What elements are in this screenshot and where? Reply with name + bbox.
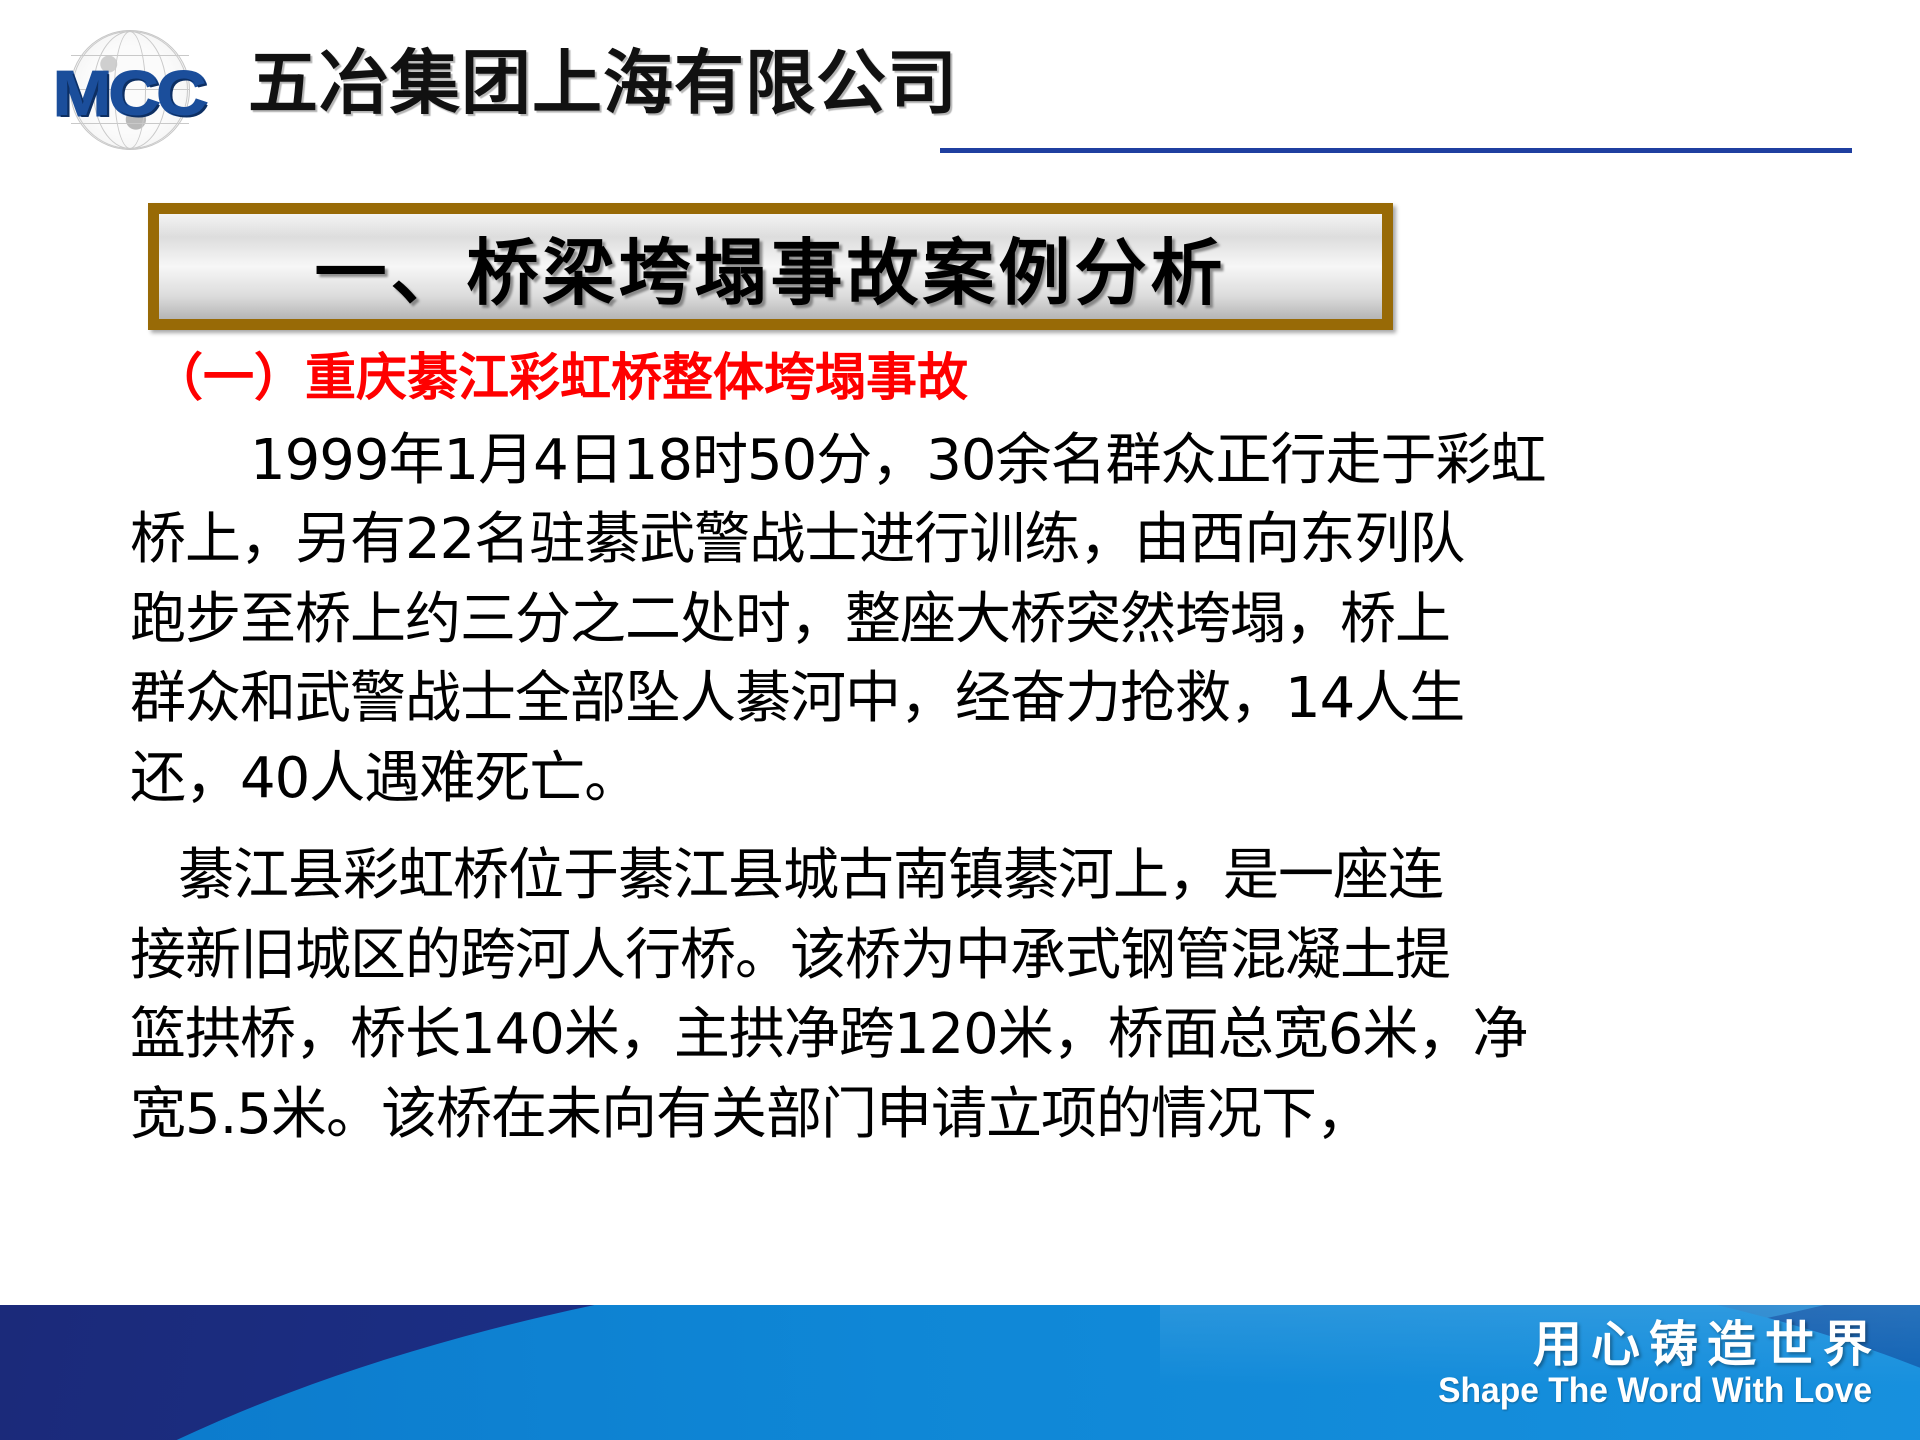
paragraph-line: 綦江县彩虹桥位于綦江县城古南镇綦河上，是一座连 [130, 836, 1810, 916]
paragraph-accident-description: 1999年1月4日18时50分，30余名群众正行走于彩虹 桥上，另有22名驻綦武… [130, 421, 1810, 819]
slide-header: MCC 五冶集团上海有限公司 [0, 0, 1920, 160]
paragraph-line: 1999年1月4日18时50分，30余名群众正行走于彩虹 [130, 421, 1810, 501]
paragraph-line: 篮拱桥，桥长140米，主拱净跨120米，桥面总宽6米，净 [130, 995, 1810, 1075]
slogan-english: Shape The Word With Love [1438, 1372, 1872, 1411]
mcc-logo-text: MCC [9, 64, 250, 126]
section-title-box: 一、桥梁垮塌事故案例分析 [148, 203, 1393, 330]
header-divider [940, 148, 1852, 153]
paragraph-line: 还，40人遇难死亡。 [130, 739, 1810, 819]
paragraph-line: 群众和武警战士全部坠人綦河中，经奋力抢救，14人生 [130, 659, 1810, 739]
slogan-chinese: 用心铸造世界 [1420, 1319, 1881, 1370]
slide-footer: 用心铸造世界 Shape The Word With Love [0, 1305, 1920, 1440]
company-name: 五冶集团上海有限公司 [248, 48, 958, 118]
case-subtitle: （一）重庆綦江彩虹桥整体垮塌事故 [152, 350, 1810, 409]
slide-content: （一）重庆綦江彩虹桥整体垮塌事故 1999年1月4日18时50分，30余名群众正… [130, 350, 1810, 1154]
paragraph-line: 宽5.5米。该桥在未向有关部门申请立项的情况下， [130, 1075, 1810, 1155]
mcc-logo: MCC [22, 28, 237, 153]
paragraph-line: 接新旧城区的跨河人行桥。该桥为中承式钢管混凝土提 [130, 916, 1810, 996]
paragraph-bridge-description: 綦江县彩虹桥位于綦江县城古南镇綦河上，是一座连 接新旧城区的跨河人行桥。该桥为中… [130, 836, 1810, 1154]
footer-slogan: 用心铸造世界 Shape The Word With Love [1420, 1319, 1872, 1411]
paragraph-line: 桥上，另有22名驻綦武警战士进行训练，由西向东列队 [130, 500, 1810, 580]
paragraph-line: 跑步至桥上约三分之二处时，整座大桥突然垮塌，桥上 [130, 580, 1810, 660]
section-title-text: 一、桥梁垮塌事故案例分析 [159, 214, 1382, 319]
